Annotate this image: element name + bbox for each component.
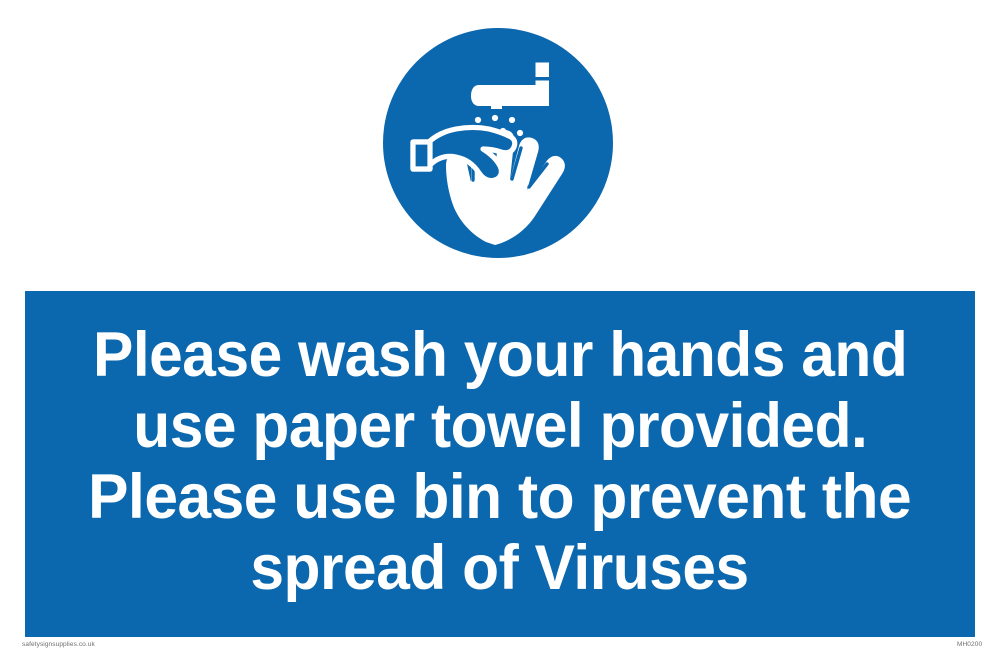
faucet-nozzle-icon (491, 98, 502, 109)
footer-strip: safetysignsupplies.co.uk MH0200 (0, 641, 1000, 666)
message-line-3: Please use bin to prevent the (89, 462, 912, 533)
faucet-cap-icon (536, 63, 550, 78)
wash-your-hands-pictogram (383, 28, 613, 258)
faucet-stem-icon (536, 81, 550, 107)
back-hand-wrist-icon (413, 142, 430, 169)
pictogram-area (0, 0, 1000, 286)
message-line-2: use paper towel provided. (133, 391, 867, 462)
message-line-1: Please wash your hands and (93, 320, 907, 391)
website-credit: safetysignsupplies.co.uk (22, 641, 95, 648)
message-banner: Please wash your hands and use paper tow… (25, 291, 975, 637)
safety-sign: Please wash your hands and use paper tow… (0, 0, 1000, 666)
product-code: MH0200 (957, 641, 982, 648)
faucet-spout-icon (471, 85, 536, 106)
message-line-4: spread of Viruses (251, 533, 749, 604)
